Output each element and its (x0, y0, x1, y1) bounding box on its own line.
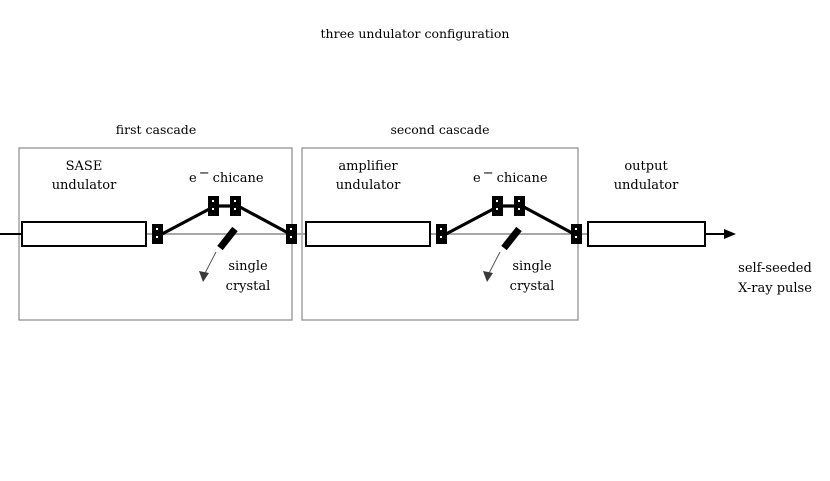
sase-undulator-label-line1: SASE (66, 159, 103, 174)
first-chicane-label-prefix: e (189, 171, 197, 186)
output-undulator-label-line2: undulator (614, 178, 679, 193)
second-chicane-label-prefix: e (473, 171, 481, 186)
sase-undulator-label-line2: undulator (52, 178, 117, 193)
second-single-crystal: single crystal (483, 229, 554, 294)
first-crystal-arrowhead (199, 271, 209, 282)
first-chicane-magnet-exit (286, 224, 297, 244)
output-beam-arrow (705, 229, 736, 239)
first-cascade-label: first cascade (116, 122, 196, 137)
second-crystal-label-line1: single (512, 259, 552, 274)
second-cascade-label: second cascade (390, 122, 489, 137)
output-beam-label-line2: X-ray pulse (738, 281, 812, 296)
figure-title: three undulator configuration (321, 26, 510, 41)
first-chicane-magnet-apex-left (208, 196, 219, 216)
first-crystal-label-line2: crystal (226, 279, 271, 294)
sase-undulator-box (22, 222, 146, 246)
second-chicane-trajectory (446, 206, 574, 234)
svg-text:e−chicane: e−chicane (189, 166, 264, 186)
amplifier-undulator: amplifier undulator (306, 159, 430, 246)
second-chicane-label-superscript: − (483, 166, 494, 181)
first-chicane-magnet-entry (152, 224, 163, 244)
first-chicane-label: e−chicane (189, 166, 264, 186)
sase-undulator: SASE undulator (22, 159, 146, 246)
first-chicane-trajectory (162, 206, 290, 234)
amplifier-undulator-label-line1: amplifier (338, 159, 398, 174)
first-single-crystal: single crystal (199, 229, 270, 294)
output-undulator: output undulator (588, 159, 705, 246)
svg-text:e−chicane: e−chicane (473, 166, 548, 186)
second-chicane-label-name: chicane (497, 171, 548, 186)
first-chicane-magnet-apex-right (230, 196, 241, 216)
amplifier-undulator-box (306, 222, 430, 246)
output-undulator-box (588, 222, 705, 246)
second-chicane-label: e−chicane (473, 166, 548, 186)
second-crystal-label-line2: crystal (510, 279, 555, 294)
second-crystal-arrowhead (483, 271, 493, 282)
second-chicane-magnet-apex-right (514, 196, 525, 216)
output-undulator-label-line1: output (624, 159, 668, 174)
three-undulator-diagram: three undulator configuration first casc… (0, 0, 830, 481)
amplifier-undulator-label-line2: undulator (336, 178, 401, 193)
first-chicane-label-name: chicane (213, 171, 264, 186)
first-chicane-label-superscript: − (199, 166, 210, 181)
first-crystal-label-line1: single (228, 259, 268, 274)
output-beam-label-line1: self-seeded (738, 261, 812, 276)
second-chicane-magnet-exit (571, 224, 582, 244)
second-chicane-magnet-apex-left (492, 196, 503, 216)
second-chicane-magnet-entry (436, 224, 447, 244)
